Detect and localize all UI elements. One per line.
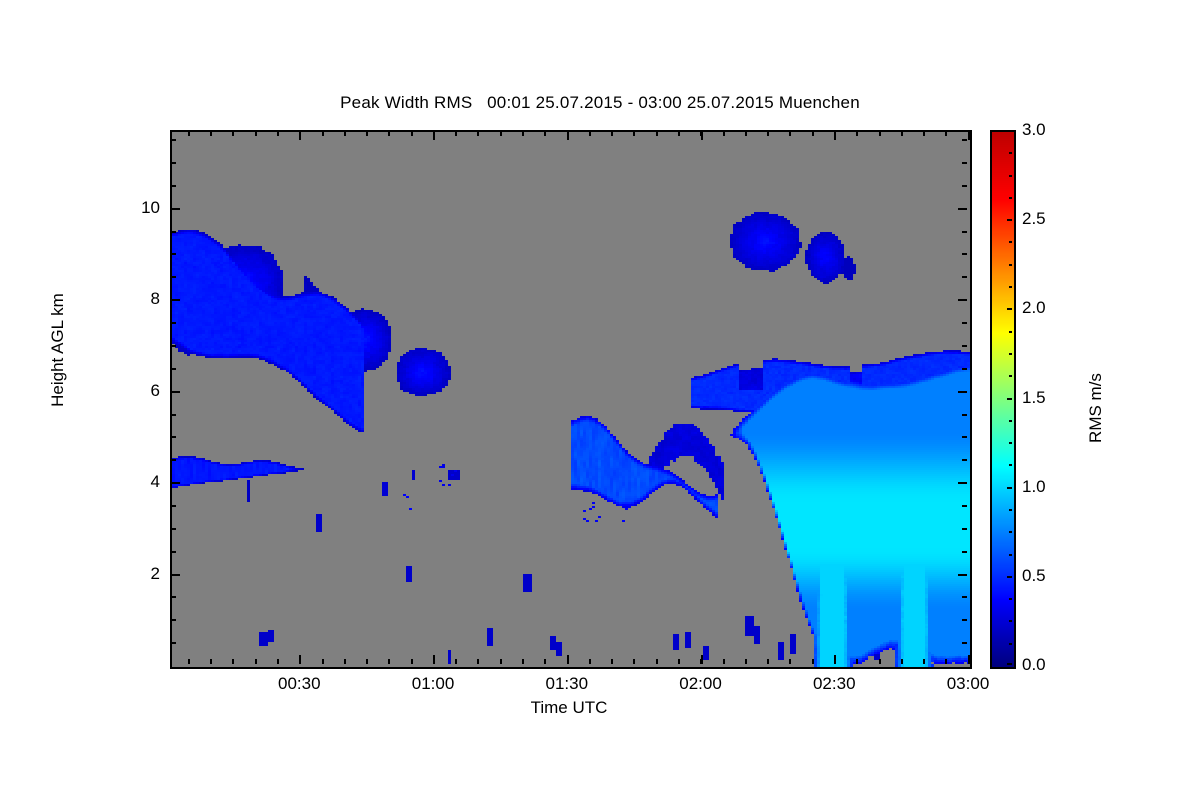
y-tick	[171, 208, 180, 210]
y-tick	[171, 482, 180, 484]
y-tick-label: 4	[120, 472, 160, 492]
y-tick	[171, 276, 176, 278]
y-tick	[171, 596, 176, 598]
colorbar-minor-tick	[1009, 464, 1012, 466]
y-tick-label: 10	[120, 198, 160, 218]
colorbar-minor-tick	[1009, 509, 1012, 511]
colorbar-tick-label: 1.0	[1022, 477, 1046, 497]
colorbar-minor-tick	[1009, 286, 1012, 288]
x-tick	[633, 659, 635, 664]
y-tick	[171, 505, 176, 507]
x-tick	[277, 131, 279, 136]
y-tick	[962, 436, 967, 438]
x-tick	[789, 131, 791, 136]
colorbar-minor-tick	[1009, 353, 1012, 355]
y-tick	[958, 574, 967, 576]
y-tick	[962, 185, 967, 187]
colorbar-minor-tick	[1009, 620, 1012, 622]
y-tick	[171, 642, 176, 644]
x-tick	[366, 659, 368, 664]
x-tick	[656, 659, 658, 664]
x-tick	[567, 655, 569, 664]
lidar-heatmap-canvas[interactable]	[172, 132, 970, 667]
x-tick	[923, 659, 925, 664]
colorbar-major-tick	[1007, 663, 1012, 665]
x-tick	[789, 659, 791, 664]
colorbar-minor-tick	[1009, 531, 1012, 533]
y-tick-label: 6	[120, 381, 160, 401]
x-tick	[767, 131, 769, 136]
colorbar-tick-label: 1.5	[1022, 388, 1046, 408]
colorbar-major-tick	[1007, 398, 1012, 400]
x-tick	[388, 659, 390, 664]
y-tick	[171, 231, 176, 233]
colorbar-major-tick	[1007, 219, 1012, 221]
colorbar-major-tick	[1007, 308, 1012, 310]
y-tick	[958, 482, 967, 484]
x-tick	[411, 131, 413, 136]
y-tick	[962, 368, 967, 370]
colorbar-tick-label: 2.0	[1022, 298, 1046, 318]
x-tick	[812, 131, 814, 136]
y-tick	[171, 459, 176, 461]
y-tick	[958, 391, 967, 393]
y-tick	[962, 322, 967, 324]
y-tick	[171, 345, 176, 347]
colorbar-minor-tick	[1009, 152, 1012, 154]
x-tick	[968, 131, 970, 140]
y-tick	[962, 231, 967, 233]
x-tick	[455, 659, 457, 664]
x-tick	[411, 659, 413, 664]
x-tick	[477, 659, 479, 664]
colorbar-gradient	[992, 132, 1014, 667]
y-tick	[962, 253, 967, 255]
x-tick	[500, 659, 502, 664]
x-tick	[232, 131, 234, 136]
y-tick	[962, 139, 967, 141]
x-tick	[500, 131, 502, 136]
x-tick	[968, 655, 970, 664]
x-tick	[433, 131, 435, 140]
y-tick	[962, 345, 967, 347]
y-tick	[962, 414, 967, 416]
y-tick	[962, 642, 967, 644]
y-tick	[171, 299, 180, 301]
x-tick	[299, 655, 301, 664]
x-tick	[856, 131, 858, 136]
y-tick	[171, 551, 176, 553]
y-tick	[171, 391, 180, 393]
y-tick	[958, 299, 967, 301]
colorbar-major-tick	[1007, 576, 1012, 578]
x-tick	[522, 659, 524, 664]
colorbar-minor-tick	[1009, 197, 1012, 199]
colorbar-major-tick	[1007, 130, 1012, 132]
x-tick	[366, 131, 368, 136]
x-tick	[344, 131, 346, 136]
x-tick	[589, 659, 591, 664]
colorbar-minor-tick	[1009, 420, 1012, 422]
x-tick	[901, 659, 903, 664]
x-tick	[344, 659, 346, 664]
y-tick	[962, 276, 967, 278]
colorbar-tick-label: 2.5	[1022, 209, 1046, 229]
page-title: Peak Width RMS 00:01 25.07.2015 - 03:00 …	[0, 93, 1200, 113]
y-tick	[962, 619, 967, 621]
y-tick	[171, 185, 176, 187]
y-axis-title: Height AGL km	[48, 240, 68, 460]
x-tick	[188, 131, 190, 136]
x-tick	[277, 659, 279, 664]
x-tick	[767, 659, 769, 664]
x-tick	[745, 659, 747, 664]
x-axis-title: Time UTC	[170, 698, 968, 718]
x-tick	[544, 659, 546, 664]
x-tick	[611, 659, 613, 664]
x-tick	[923, 131, 925, 136]
x-tick	[455, 131, 457, 136]
x-tick	[723, 659, 725, 664]
x-tick	[544, 131, 546, 136]
plot-area[interactable]	[170, 130, 972, 669]
x-tick-label: 02:30	[813, 674, 856, 694]
x-tick	[255, 659, 257, 664]
x-tick	[678, 659, 680, 664]
x-tick	[477, 131, 479, 136]
colorbar-minor-tick	[1009, 598, 1012, 600]
x-tick-label: 02:00	[679, 674, 722, 694]
colorbar-minor-tick	[1009, 175, 1012, 177]
x-tick	[255, 131, 257, 136]
colorbar-minor-tick	[1009, 554, 1012, 556]
x-tick	[834, 655, 836, 664]
x-tick	[433, 655, 435, 664]
x-tick	[210, 131, 212, 136]
y-tick	[962, 528, 967, 530]
x-tick	[210, 659, 212, 664]
colorbar-tick-label: 0.5	[1022, 566, 1046, 586]
x-tick	[879, 131, 881, 136]
x-tick	[834, 131, 836, 140]
colorbar-title: RMS m/s	[1086, 298, 1106, 518]
x-tick	[589, 131, 591, 136]
colorbar[interactable]	[990, 130, 1016, 669]
x-tick	[678, 131, 680, 136]
x-tick	[723, 131, 725, 136]
y-tick-label: 2	[120, 564, 160, 584]
y-tick	[171, 574, 180, 576]
colorbar-minor-tick	[1009, 643, 1012, 645]
x-tick	[901, 131, 903, 136]
y-tick	[171, 528, 176, 530]
y-tick	[962, 505, 967, 507]
y-tick	[962, 551, 967, 553]
y-tick	[171, 139, 176, 141]
colorbar-minor-tick	[1009, 241, 1012, 243]
colorbar-minor-tick	[1009, 442, 1012, 444]
x-tick	[388, 131, 390, 136]
colorbar-major-tick	[1007, 487, 1012, 489]
x-tick	[856, 659, 858, 664]
x-tick	[812, 659, 814, 664]
x-tick	[945, 659, 947, 664]
y-tick	[171, 619, 176, 621]
x-tick	[633, 131, 635, 136]
x-tick	[322, 659, 324, 664]
y-tick	[962, 162, 967, 164]
x-tick	[188, 659, 190, 664]
colorbar-minor-tick	[1009, 375, 1012, 377]
x-tick	[701, 655, 703, 664]
y-tick	[171, 368, 176, 370]
figure-root: Peak Width RMS 00:01 25.07.2015 - 03:00 …	[0, 0, 1200, 800]
x-tick	[945, 131, 947, 136]
x-tick	[522, 131, 524, 136]
x-tick-label: 01:00	[412, 674, 455, 694]
y-tick	[958, 208, 967, 210]
y-tick	[962, 596, 967, 598]
colorbar-minor-tick	[1009, 331, 1012, 333]
x-tick	[879, 659, 881, 664]
colorbar-tick-label: 0.0	[1022, 655, 1046, 675]
x-tick-label: 01:30	[545, 674, 588, 694]
y-tick	[171, 253, 176, 255]
y-tick	[962, 459, 967, 461]
colorbar-tick-label: 3.0	[1022, 120, 1046, 140]
x-tick	[656, 131, 658, 136]
y-tick	[171, 436, 176, 438]
colorbar-minor-tick	[1009, 264, 1012, 266]
x-tick	[322, 131, 324, 136]
y-tick	[171, 322, 176, 324]
x-tick	[232, 659, 234, 664]
x-tick	[299, 131, 301, 140]
y-tick-label: 8	[120, 289, 160, 309]
y-tick	[171, 162, 176, 164]
x-tick	[701, 131, 703, 140]
x-tick	[567, 131, 569, 140]
y-tick	[171, 414, 176, 416]
x-tick	[745, 131, 747, 136]
x-tick-label: 03:00	[947, 674, 990, 694]
x-tick	[611, 131, 613, 136]
x-tick-label: 00:30	[278, 674, 321, 694]
